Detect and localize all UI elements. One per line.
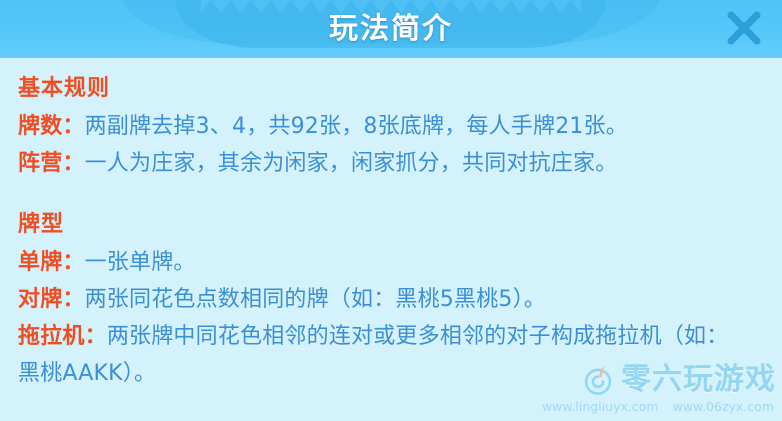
section-heading-basic-rules: 基本规则: [18, 72, 782, 106]
close-x-icon[interactable]: [722, 6, 766, 50]
rule-line: 单牌：一张单牌。: [18, 244, 782, 281]
rules-body: 基本规则 牌数：两副牌去掉3、4，共92张，8张底牌，每人手牌21张。 阵营：一…: [0, 58, 782, 421]
rule-label: 牌数：: [18, 114, 85, 139]
rule-line: 对牌：两张同花色点数相同的牌（如：黑桃5黑桃5）。: [18, 281, 782, 318]
section-spacer: [18, 182, 782, 208]
dialog-titlebar: 玩法简介: [0, 0, 782, 58]
page-title: 玩法简介: [0, 8, 782, 48]
game-rules-dialog: 玩法简介 基本规则 牌数：两副牌去掉3、4，共92张，8张底牌，每人手牌21张。…: [0, 0, 782, 421]
section-heading-card-types: 牌型: [18, 208, 782, 242]
rule-line: 牌数：两副牌去掉3、4，共92张，8张底牌，每人手牌21张。: [18, 108, 782, 145]
rule-label: 拖拉机：: [18, 324, 107, 349]
rule-line: 阵营：一人为庄家，其余为闲家，闲家抓分，共同对抗庄家。: [18, 145, 782, 182]
rule-text: 两副牌去掉3、4，共92张，8张底牌，每人手牌21张。: [85, 114, 628, 139]
rule-label: 对牌：: [18, 287, 85, 312]
rule-text: 一人为庄家，其余为闲家，闲家抓分，共同对抗庄家。: [85, 151, 618, 176]
rule-line: 拖拉机：两张牌中同花色相邻的连对或更多相邻的对子构成拖拉机（如：: [18, 318, 782, 355]
rule-text: 黑桃AAKK）。: [18, 361, 156, 386]
rule-line-continuation: 黑桃AAKK）。: [18, 355, 782, 392]
rule-label: 单牌：: [18, 250, 85, 275]
rule-text: 两张同花色点数相同的牌（如：黑桃5黑桃5）。: [85, 287, 546, 312]
watermark-url: www.lingliuyx.com: [542, 399, 659, 415]
close-button[interactable]: [720, 4, 768, 52]
rule-label: 阵营：: [18, 151, 85, 176]
watermark-url: www.06zyx.com: [673, 399, 774, 415]
watermark-urls: www.lingliuyx.com www.06zyx.com: [544, 399, 776, 415]
rule-text: 两张牌中同花色相邻的连对或更多相邻的对子构成拖拉机（如：: [107, 324, 729, 349]
rule-text: 一张单牌。: [85, 250, 196, 275]
